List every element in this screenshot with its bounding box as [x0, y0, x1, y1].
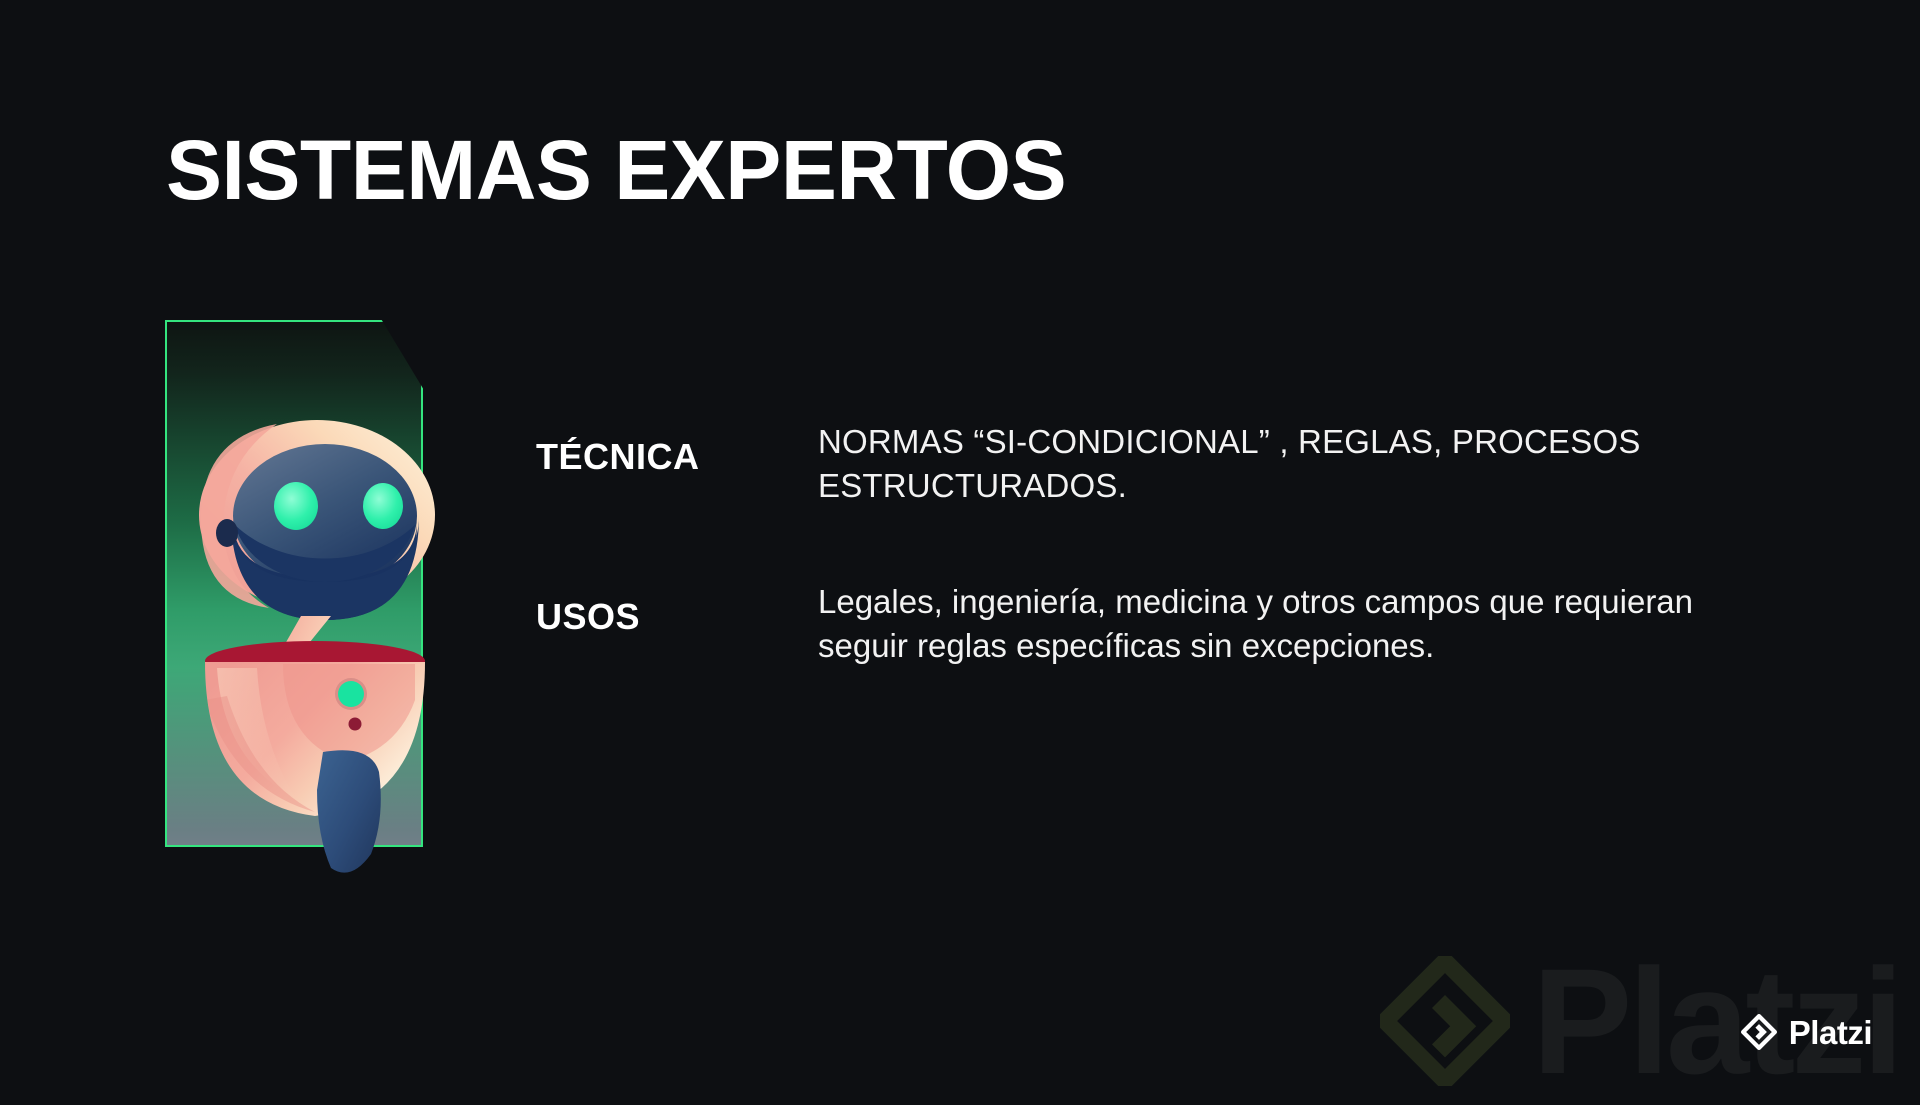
- row-body-usos: Legales, ingeniería, medicina y otros ca…: [818, 580, 1776, 668]
- frame-shape: [165, 320, 423, 847]
- platzi-logo-icon: [1741, 1014, 1777, 1050]
- platzi-logo: Platzi: [1741, 1014, 1872, 1050]
- illustration-frame: [165, 320, 423, 847]
- platzi-logo-watermark-icon: [1380, 956, 1510, 1086]
- row-label-tecnica: TÉCNICA: [536, 420, 818, 478]
- row-label-usos: USOS: [536, 580, 818, 638]
- row-body-tecnica: NORMAS “SI-CONDICIONAL” , REGLAS, PROCES…: [818, 420, 1776, 508]
- page-title: SISTEMAS EXPERTOS: [166, 128, 1066, 212]
- content-row: TÉCNICA NORMAS “SI-CONDICIONAL” , REGLAS…: [536, 420, 1776, 508]
- slide-root: SISTEMAS EXPERTOS: [0, 0, 1920, 1080]
- content-block: TÉCNICA NORMAS “SI-CONDICIONAL” , REGLAS…: [536, 420, 1776, 668]
- content-row: USOS Legales, ingeniería, medicina y otr…: [536, 580, 1776, 668]
- platzi-logo-text: Platzi: [1789, 1016, 1872, 1049]
